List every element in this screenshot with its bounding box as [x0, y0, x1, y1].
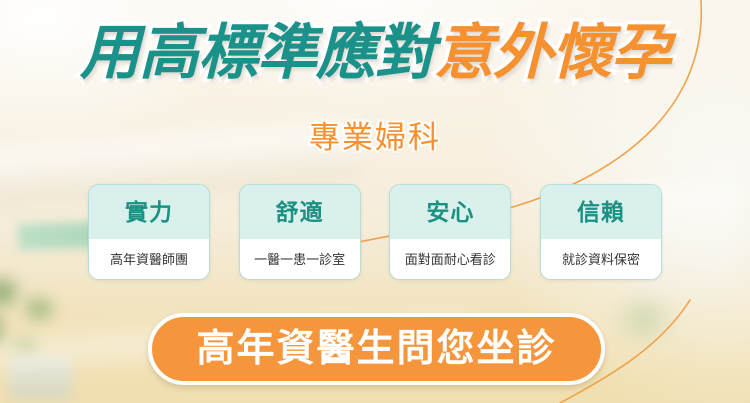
feature-card-body: 就診資料保密 — [541, 239, 661, 279]
feature-card-list: 實力 高年資醫師團 舒適 一醫一患一診室 安心 面對面耐心看診 信賴 — [88, 184, 662, 278]
feature-card-title: 安心 — [426, 201, 474, 224]
feature-card[interactable]: 信賴 就診資料保密 — [540, 184, 662, 280]
subtitle: 專業婦科 — [0, 112, 750, 157]
background-right-foliage — [600, 288, 710, 374]
cta-button-label: 高年資醫生問您坐診 — [196, 330, 556, 368]
cta-button[interactable]: 高年資醫生問您坐診 — [148, 313, 605, 385]
feature-card-description: 就診資料保密 — [562, 253, 640, 266]
feature-card[interactable]: 實力 高年資醫師團 — [88, 184, 210, 280]
feature-card-title: 舒適 — [276, 201, 324, 224]
feature-card-description: 面對面耐心看診 — [405, 253, 496, 266]
headline-orange-text: 意外懷孕 — [434, 19, 670, 86]
feature-card[interactable]: 安心 面對面耐心看診 — [389, 184, 511, 280]
feature-card[interactable]: 舒適 一醫一患一診室 — [239, 184, 361, 280]
feature-card-header: 安心 — [390, 185, 510, 239]
feature-card-header: 實力 — [89, 185, 209, 239]
feature-card-description: 一醫一患一診室 — [254, 253, 345, 266]
feature-card-title: 實力 — [125, 201, 173, 224]
feature-card-header: 舒適 — [240, 185, 360, 239]
feature-card-header: 信賴 — [541, 185, 661, 239]
promo-banner: 用高標準應對意外懷孕 專業婦科 實力 高年資醫師團 舒適 一醫一患一診室 安心 — [0, 0, 750, 403]
headline-teal-text: 用高標準應對 — [80, 19, 434, 86]
feature-card-body: 一醫一患一診室 — [240, 239, 360, 279]
feature-card-body: 面對面耐心看診 — [390, 239, 510, 279]
feature-card-title: 信賴 — [577, 201, 625, 224]
headline: 用高標準應對意外懷孕 — [0, 18, 750, 89]
feature-card-body: 高年資醫師團 — [89, 239, 209, 279]
feature-card-description: 高年資醫師團 — [110, 253, 188, 266]
